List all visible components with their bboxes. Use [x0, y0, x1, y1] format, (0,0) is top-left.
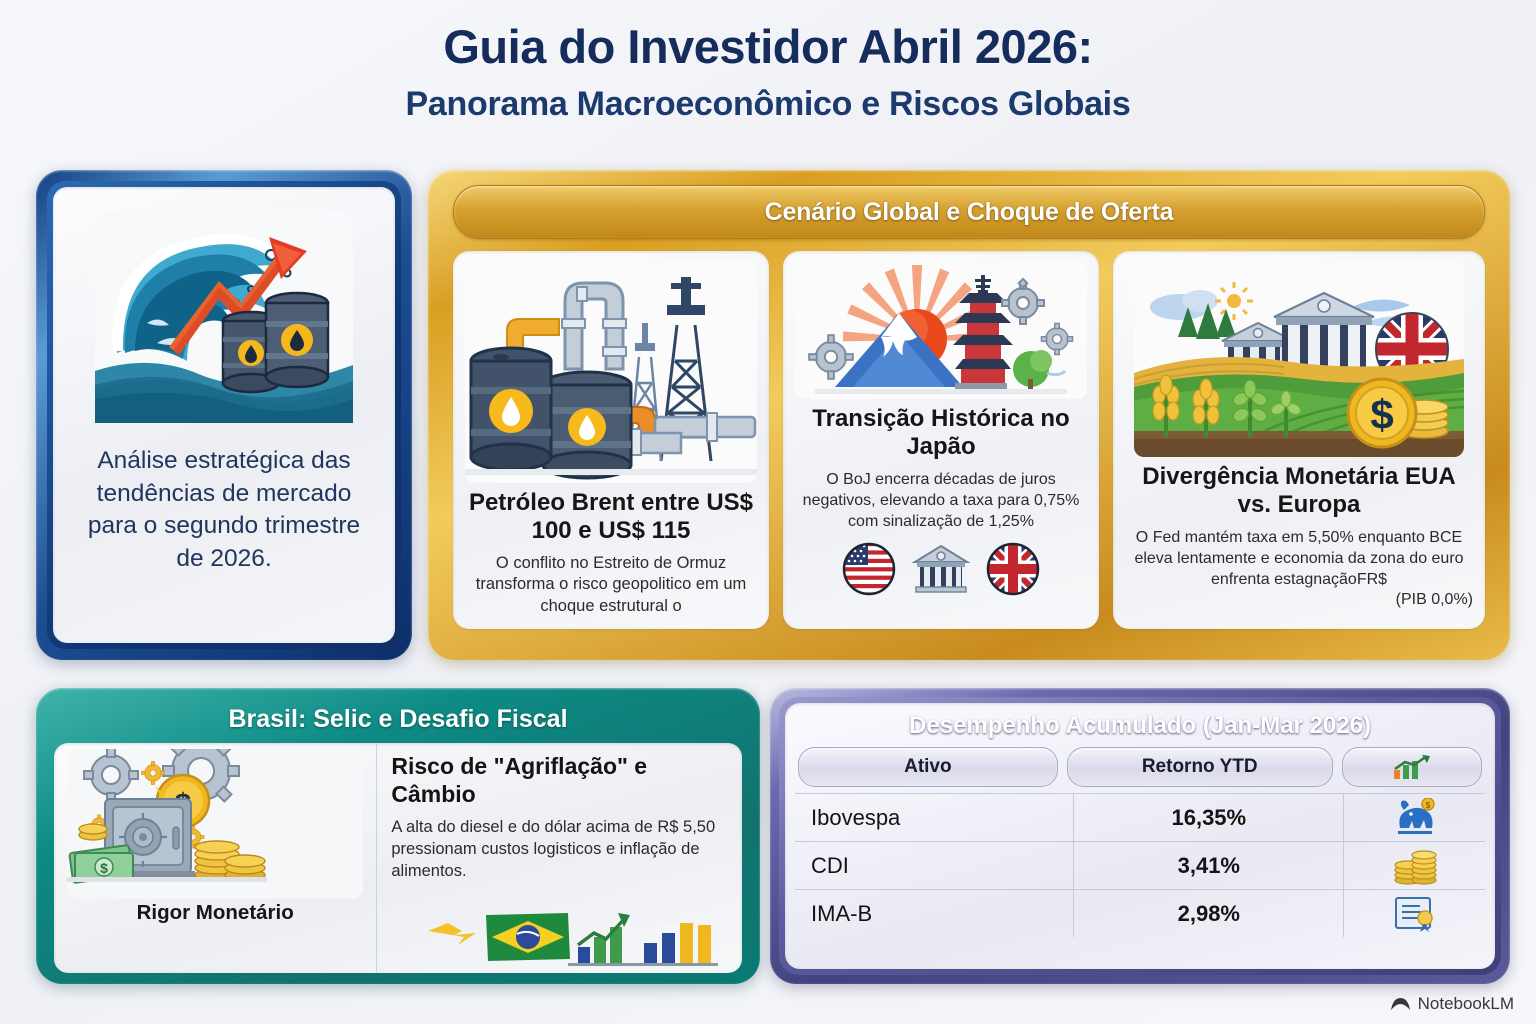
cell-icon: $: [1344, 794, 1485, 841]
cell-icon: [1344, 890, 1485, 937]
global-scenario-card: Cenário Global e Choque de Oferta: [428, 170, 1510, 660]
bond-certificate-icon: [1392, 894, 1438, 934]
brasil-right-body: A alta do diesel e do dólar acima de R$ …: [391, 817, 728, 883]
panel-japan-heading: Transição Histórica no Japão: [795, 405, 1087, 461]
bank-building-icon: [912, 542, 970, 601]
brasil-right-heading: Risco de "Agriflação" e Câmbio: [391, 753, 728, 808]
vault-safe-gears-money-coins-illustration: $: [67, 749, 363, 899]
column-header-ativo: Ativo: [798, 747, 1058, 787]
notebooklm-logo-icon: [1390, 996, 1411, 1013]
brasil-card-header: Brasil: Selic e Desafio Fiscal: [46, 698, 750, 740]
table-header-row: Ativo Retorno YTD: [795, 747, 1485, 793]
japan-rising-sun-mount-fuji-pagoda-illustration: [795, 261, 1087, 399]
intro-description: Análise estratégica das tendências de me…: [71, 445, 377, 575]
trending-chart-icon: [1392, 754, 1432, 780]
panel-japan: Transição Histórica no Japão O BoJ encer…: [783, 251, 1099, 629]
svg-text:$: $: [1425, 801, 1430, 810]
intro-card: Análise estratégica das tendências de me…: [36, 170, 412, 660]
panel-europe-tail: (PIB 0,0%): [1396, 591, 1473, 609]
panel-oil-body: O conflito no Estreito de Ormuz transfor…: [465, 553, 757, 618]
svg-text:$: $: [1370, 391, 1393, 438]
performance-table: Ativo Retorno YTD: [795, 747, 1485, 960]
title-subtitle: Panorama Macroeconômico e Riscos Globais: [0, 85, 1536, 124]
cell-return: 3,41%: [1074, 842, 1344, 889]
panel-europe: $ Divergência Monetária EUA vs. Europa O…: [1113, 251, 1485, 629]
column-header-trend-icon: [1342, 747, 1482, 787]
brasil-card-header-label: Brasil: Selic e Desafio Fiscal: [228, 705, 567, 734]
oil-barrels-pipeline-rig-illustration: [465, 261, 757, 483]
title-main: Guia do Investidor Abril 2026:: [0, 22, 1536, 72]
brasil-left-caption: Rigor Monetário: [137, 901, 294, 925]
notebooklm-watermark-label: NotebookLM: [1418, 994, 1514, 1014]
performance-card-header: Desempenho Acumulado (Jan-Mar 2026): [795, 710, 1485, 747]
cell-return: 2,98%: [1074, 890, 1344, 937]
flag-usa-icon: [842, 542, 896, 601]
svg-text:$: $: [100, 860, 108, 876]
flag-uk-icon: [986, 542, 1040, 601]
table-row: IMA-B 2,98%: [795, 889, 1485, 937]
panel-japan-body: O BoJ encerra décadas de juros negativos…: [795, 469, 1087, 532]
infographic-canvas: Guia do Investidor Abril 2026: Panorama …: [0, 0, 1536, 1024]
column-header-retorno: Retorno YTD: [1067, 747, 1333, 787]
cell-asset: CDI: [795, 842, 1074, 889]
panel-europe-body: O Fed mantém taxa em 5,50% enquanto BCE …: [1125, 527, 1473, 590]
page-title: Guia do Investidor Abril 2026: Panorama …: [0, 22, 1536, 124]
global-card-header: Cenário Global e Choque de Oferta: [453, 185, 1485, 239]
cell-asset: Ibovespa: [795, 794, 1074, 841]
panel-europe-heading: Divergência Monetária EUA vs. Europa: [1125, 463, 1473, 519]
table-row: CDI 3,41%: [795, 841, 1485, 889]
brasil-card: Brasil: Selic e Desafio Fiscal: [36, 688, 760, 984]
panel-oil: Petróleo Brent entre US$ 100 e US$ 115 O…: [453, 251, 769, 629]
europe-farmland-banks-uk-flag-coins-illustration: $: [1134, 261, 1464, 457]
global-card-header-label: Cenário Global e Choque de Oferta: [765, 198, 1174, 227]
cell-asset: IMA-B: [795, 890, 1074, 937]
performance-card-header-label: Desempenho Acumulado (Jan-Mar 2026): [909, 712, 1371, 739]
table-row: Ibovespa 16,35% $: [795, 793, 1485, 841]
cell-icon: [1344, 842, 1485, 889]
brasil-right-column: Risco de "Agriflação" e Câmbio A alta do…: [377, 743, 742, 973]
brasil-left-column: $: [54, 743, 377, 973]
wave-oil-barrels-rising-arrow-illustration: [91, 203, 357, 431]
notebooklm-watermark: NotebookLM: [1390, 994, 1514, 1014]
cell-return: 16,35%: [1074, 794, 1344, 841]
brazil-flag-bar-chart-arrow-illustration: [428, 905, 728, 969]
bull-market-icon: $: [1392, 798, 1438, 838]
gold-coins-icon: [1392, 846, 1438, 886]
panel-oil-heading: Petróleo Brent entre US$ 100 e US$ 115: [465, 489, 757, 545]
performance-card: Desempenho Acumulado (Jan-Mar 2026) Ativ…: [770, 688, 1510, 984]
